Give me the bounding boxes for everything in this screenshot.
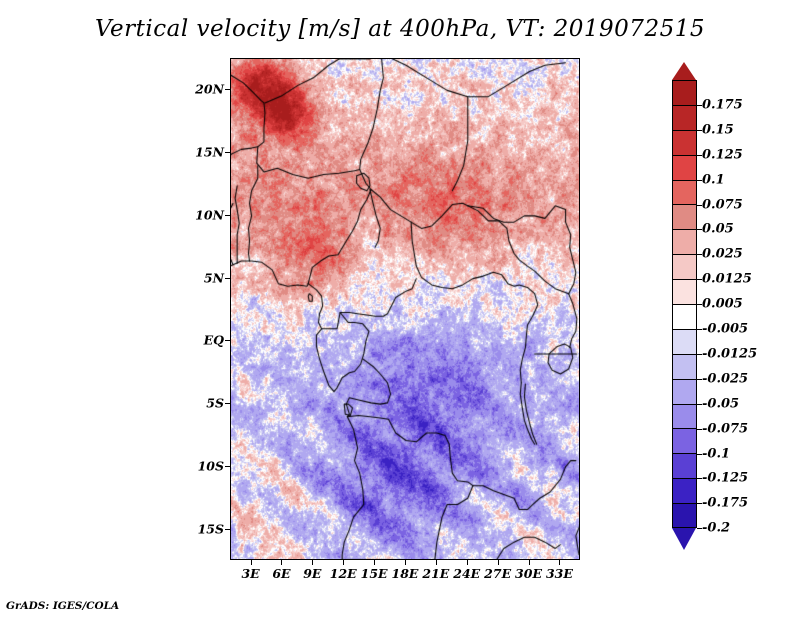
y-axis-tick-label: 10S (186, 458, 224, 473)
colorbar-swatch (672, 105, 697, 130)
x-axis-tick-mark (251, 560, 252, 565)
y-axis-tick-mark (225, 89, 230, 90)
colorbar-swatch (672, 279, 697, 304)
colorbar-swatches (672, 80, 697, 528)
x-axis-tick-mark (529, 560, 530, 565)
x-axis-tick-label: 9E (303, 566, 321, 581)
x-axis-tick-mark (312, 560, 313, 565)
colorbar-tick-label: -0.005 (702, 322, 748, 337)
colorbar-tick-mark (697, 304, 702, 305)
colorbar-swatch (672, 304, 697, 329)
colorbar-tick-mark (697, 379, 702, 380)
colorbar-arrow-down-icon (672, 528, 696, 550)
x-axis-tick-label: 12E (330, 566, 357, 581)
colorbar-tick-mark (697, 130, 702, 131)
attribution-footer: GrADS: IGES/COLA (6, 600, 119, 612)
y-axis-tick-label: 15S (186, 521, 224, 536)
y-axis-tick-mark (225, 215, 230, 216)
colorbar-tick-label: -0.025 (702, 371, 748, 386)
x-axis-tick-mark (405, 560, 406, 565)
x-axis-tick-mark (467, 560, 468, 565)
colorbar-swatch (672, 503, 697, 528)
colorbar-tick-mark (697, 404, 702, 405)
y-axis-tick-mark (225, 529, 230, 530)
colorbar-tick-mark (697, 180, 702, 181)
colorbar-tick-label: 0.0125 (702, 272, 752, 287)
colorbar-tick-mark (697, 155, 702, 156)
colorbar-tick-mark (697, 503, 702, 504)
x-axis-tick-label: 33E (546, 566, 573, 581)
vertical-velocity-field (231, 59, 580, 560)
y-axis-tick-label: 5S (186, 396, 224, 411)
colorbar-swatch (672, 453, 697, 478)
colorbar-arrow-up-icon (672, 62, 696, 80)
x-axis-tick-label: 15E (361, 566, 388, 581)
y-axis-tick-mark (225, 403, 230, 404)
colorbar-tick-label: -0.075 (702, 421, 748, 436)
colorbar-tick-mark (697, 429, 702, 430)
colorbar-swatch (672, 80, 697, 105)
colorbar-tick-mark (697, 105, 702, 106)
colorbar-tick-label: 0.05 (702, 222, 734, 237)
colorbar-swatch (672, 130, 697, 155)
colorbar-tick-label: 0.15 (702, 122, 734, 137)
colorbar-tick-label: 0.075 (702, 197, 743, 212)
x-axis-tick-label: 18E (392, 566, 419, 581)
colorbar-tick-label: 0.175 (702, 97, 743, 112)
x-axis-tick-label: 21E (422, 566, 449, 581)
colorbar-swatch (672, 229, 697, 254)
colorbar-swatch (672, 180, 697, 205)
colorbar-swatch (672, 428, 697, 453)
colorbar-tick-mark (697, 354, 702, 355)
y-axis-tick-mark (225, 466, 230, 467)
colorbar-tick-mark (697, 254, 702, 255)
colorbar-swatch (672, 379, 697, 404)
colorbar-swatch (672, 478, 697, 503)
colorbar-tick-mark (697, 279, 702, 280)
colorbar-swatch (672, 254, 697, 279)
x-axis-tick-mark (436, 560, 437, 565)
colorbar-tick-label: -0.2 (702, 521, 730, 536)
colorbar-tick-mark (697, 528, 702, 529)
x-axis-tick-mark (498, 560, 499, 565)
y-axis-tick-label: 5N (186, 270, 224, 285)
colorbar-tick-label: -0.05 (702, 396, 739, 411)
colorbar-tick-label: -0.175 (702, 496, 748, 511)
y-axis-tick-mark (225, 340, 230, 341)
colorbar-tick-label: 0.025 (702, 247, 743, 262)
colorbar-tick-mark (697, 478, 702, 479)
colorbar-tick-label: -0.0125 (702, 346, 757, 361)
x-axis-tick-label: 24E (453, 566, 480, 581)
x-axis-tick-label: 3E (241, 566, 259, 581)
colorbar-swatch (672, 329, 697, 354)
x-axis-tick-mark (343, 560, 344, 565)
x-axis-tick-mark (559, 560, 560, 565)
colorbar-tick-mark (697, 454, 702, 455)
y-axis-tick-label: 20N (186, 82, 224, 97)
y-axis-tick-label: EQ (186, 333, 224, 348)
colorbar-tick-mark (697, 229, 702, 230)
map-plot-area (230, 58, 580, 560)
x-axis-tick-mark (281, 560, 282, 565)
colorbar-tick-label: 0.005 (702, 297, 743, 312)
x-axis-tick-mark (374, 560, 375, 565)
x-axis-tick-label: 27E (484, 566, 511, 581)
colorbar-swatch (672, 354, 697, 379)
colorbar-tick-mark (697, 329, 702, 330)
y-axis-tick-mark (225, 152, 230, 153)
colorbar-tick-label: 0.125 (702, 147, 743, 162)
x-axis-tick-label: 6E (272, 566, 290, 581)
colorbar-tick-label: -0.1 (702, 446, 730, 461)
colorbar-swatch (672, 404, 697, 429)
y-axis-tick-mark (225, 278, 230, 279)
colorbar-swatch (672, 155, 697, 180)
page-title: Vertical velocity [m/s] at 400hPa, VT: 2… (0, 16, 800, 42)
y-axis-tick-label: 15N (186, 145, 224, 160)
grads-plot-page: Vertical velocity [m/s] at 400hPa, VT: 2… (0, 0, 800, 618)
colorbar-tick-label: 0.1 (702, 172, 725, 187)
colorbar-tick-label: -0.125 (702, 471, 748, 486)
colorbar-tick-mark (697, 205, 702, 206)
colorbar-swatch (672, 204, 697, 229)
y-axis-tick-label: 10N (186, 207, 224, 222)
x-axis-tick-label: 30E (515, 566, 542, 581)
